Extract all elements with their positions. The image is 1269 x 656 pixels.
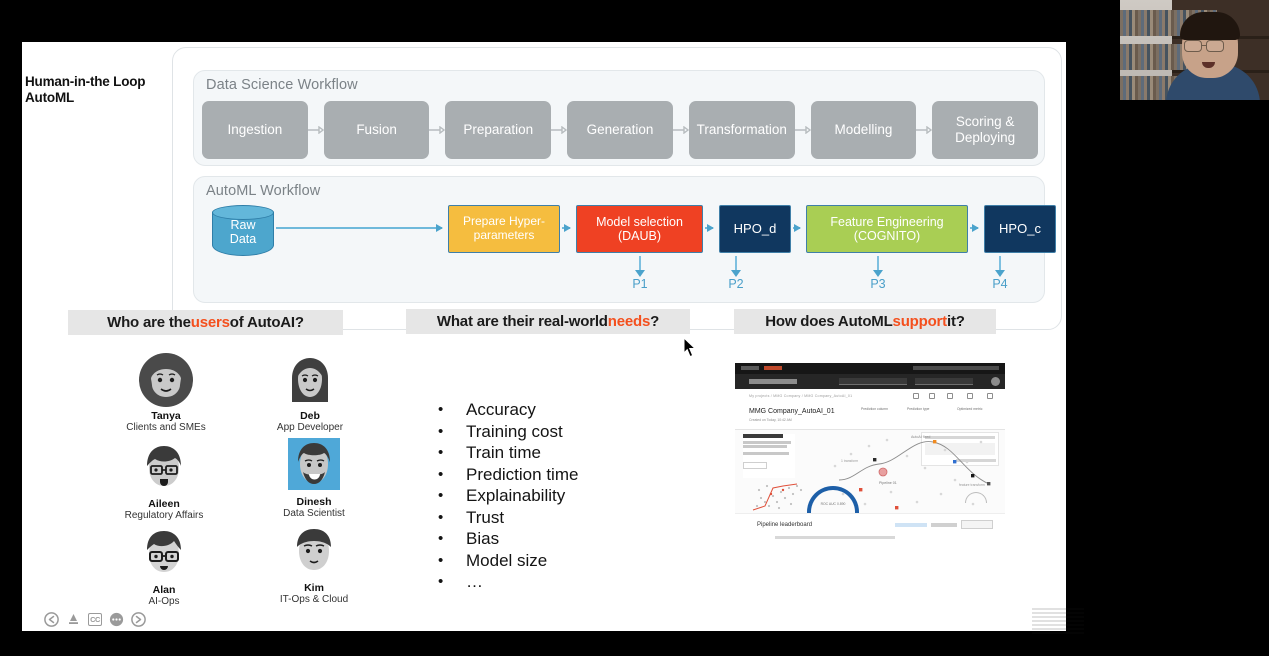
connector-arrow-icon [970, 227, 978, 229]
ranking-based-on-label [931, 523, 957, 527]
ds-step-preparation[interactable]: Preparation [445, 101, 551, 159]
svg-text:feature transform: feature transform [959, 483, 985, 487]
product-tab-active [764, 366, 782, 370]
ds-step-transformation[interactable]: Transformation [689, 101, 795, 159]
list-item: Trust [430, 507, 730, 529]
product-meta-optimized-metric: Optimized metric [957, 407, 982, 412]
more-options-icon[interactable] [109, 612, 124, 627]
feature-engineering-card [743, 434, 795, 478]
persona-role: IT-Ops & Cloud [254, 594, 374, 607]
arrow-right-icon [551, 126, 567, 134]
glasses-lens-left [1184, 40, 1202, 52]
arrow-head-icon [731, 270, 741, 277]
arrow-right-icon [916, 126, 932, 134]
edit-icon [929, 393, 935, 399]
svg-text:AutoAI fixed: AutoAI fixed [911, 435, 930, 439]
support-header-prefix: How does AutoML [765, 313, 892, 330]
product-nav-bar [735, 374, 1005, 389]
needs-header-highlight: needs [608, 313, 650, 330]
previous-slide-icon[interactable] [44, 612, 59, 627]
closed-captions-icon[interactable]: CC [88, 613, 102, 626]
connector-arrow-icon [705, 227, 713, 229]
scatter-plot-thumb [749, 476, 811, 516]
persona-role: AI-Ops [104, 596, 224, 609]
automl-step-prepare-hyperparameters[interactable]: Prepare Hyper- parameters [448, 205, 560, 253]
automl-step-model-selection[interactable]: Model selection (DAUB) [576, 205, 703, 253]
card-line [743, 441, 791, 444]
persona-role: Data Scientist [254, 508, 374, 521]
screen: Human-in-the Loop AutoML Data Science Wo… [0, 0, 1269, 656]
persona-role: Clients and SMEs [106, 422, 226, 435]
list-item: Train time [430, 442, 730, 464]
product-top-note [913, 366, 999, 370]
connector-arrow-icon [793, 227, 800, 229]
automl-step-hpo-d[interactable]: HPO_d [719, 205, 791, 253]
list-item: Model size [430, 550, 730, 572]
connector-arrow-icon [562, 227, 570, 229]
persona-grid: Tanya Clients and SMEs [68, 352, 358, 612]
pipeline-leaderboard: Pipeline leaderboard [735, 513, 1005, 547]
section-header-users: Who are the users of AutoAI? [68, 310, 343, 335]
automl-workflow-panel: AutoML Workflow Raw Data [193, 176, 1045, 303]
persona-alan: Alan AI-Ops [104, 526, 224, 609]
card-button[interactable] [743, 462, 767, 469]
persona-deb: Deb App Developer [250, 352, 370, 435]
product-tab-cloud [741, 366, 759, 370]
data-science-steps-row: Ingestion Fusion Preparation Generation [202, 101, 1038, 159]
users-header-suffix: of AutoAI? [230, 314, 304, 331]
ibm-logo [1032, 608, 1084, 634]
glasses-bridge [1202, 45, 1207, 46]
support-header-highlight: support [893, 313, 947, 330]
product-nav-select [839, 378, 907, 385]
arrow-head-icon [873, 270, 883, 277]
arrow-head-icon [995, 270, 1005, 277]
avatar-aileen-icon [136, 440, 192, 496]
list-item: … [430, 571, 730, 593]
persona-name: Tanya [106, 410, 226, 422]
card-title [743, 434, 783, 438]
avatar-dinesh-icon [286, 438, 342, 494]
automl-steps-row: Raw Data Prepare Hyper- parameters [204, 203, 1038, 265]
product-meta-prediction-column: Prediction column [861, 407, 888, 412]
workflow-diagram: Data Science Workflow Ingestion Fusion P… [172, 47, 1062, 330]
svg-text:Pipeline 01: Pipeline 01 [879, 481, 897, 485]
slide-player-controls: CC [26, 608, 146, 630]
automl-workflow-caption: AutoML Workflow [206, 183, 320, 199]
product-project-subtitle: Created on Today, 10:42 AM [749, 418, 792, 422]
persona-name: Aileen [104, 498, 224, 510]
section-header-needs: What are their real-world needs? [406, 309, 690, 334]
users-header-prefix: Who are the [107, 314, 191, 331]
arrow-head-icon [635, 270, 645, 277]
product-meta-prediction-type: Prediction type [907, 407, 929, 412]
persona-role: App Developer [250, 422, 370, 435]
arrow-right-icon [308, 126, 324, 134]
share-icon [967, 393, 973, 399]
card-line [743, 452, 789, 455]
persona-name: Deb [250, 410, 370, 422]
ds-step-fusion[interactable]: Fusion [324, 101, 430, 159]
svg-text:1 transform: 1 transform [841, 459, 858, 463]
leaderboard-metric-select[interactable] [961, 520, 993, 529]
avatar-deb-icon [282, 352, 338, 408]
ds-step-modelling[interactable]: Modelling [811, 101, 917, 159]
leaderboard-title: Pipeline leaderboard [757, 522, 812, 528]
gauge-label: ROC AUC 0.890 [807, 502, 859, 506]
list-item: Bias [430, 528, 730, 550]
product-nav-search [915, 378, 973, 385]
raw-data-cylinder-icon[interactable]: Raw Data [212, 205, 274, 263]
persona-dinesh: Dinesh Data Scientist [254, 438, 374, 521]
list-item: Explainability [430, 485, 730, 507]
persona-name: Dinesh [254, 496, 374, 508]
persona-tanya: Tanya Clients and SMEs [106, 352, 226, 435]
data-science-workflow-panel: Data Science Workflow Ingestion Fusion P… [193, 70, 1045, 166]
autoai-product-screenshot: My projects / MMG Company / MMG Company_… [735, 363, 1005, 547]
persona-kim: Kim IT-Ops & Cloud [254, 524, 374, 607]
card-line [743, 445, 787, 448]
list-item: Accuracy [430, 399, 730, 421]
persona-name: Alan [104, 584, 224, 596]
next-slide-icon[interactable] [131, 612, 146, 627]
product-top-bar [735, 363, 1005, 374]
avatar-tanya-icon [138, 352, 194, 408]
arrow-right-icon [673, 126, 689, 134]
list-item: Training cost [430, 421, 730, 443]
product-project-title: MMG Company_AutoAI_01 [749, 408, 835, 415]
automl-step-feature-engineering[interactable]: Feature Engineering (COGNITO) [806, 205, 968, 253]
link-icon [947, 393, 953, 399]
support-header-suffix: it? [947, 313, 965, 330]
ds-step-ingestion[interactable]: Ingestion [202, 101, 308, 159]
webcam-video-overlay[interactable] [1120, 0, 1269, 100]
data-science-workflow-caption: Data Science Workflow [206, 77, 358, 93]
product-avatar-icon [991, 377, 1000, 386]
ds-step-generation[interactable]: Generation [567, 101, 673, 159]
needs-bullet-list: Accuracy Training cost Train time Predic… [430, 399, 730, 593]
compare-pipelines-button[interactable] [895, 523, 927, 527]
product-action-icons [913, 393, 999, 400]
users-header-highlight: users [191, 314, 230, 331]
list-item: Prediction time [430, 464, 730, 486]
needs-header-prefix: What are their real-world [437, 313, 608, 330]
arrow-right-icon [429, 126, 445, 134]
page-title-line2: AutoML [25, 90, 185, 106]
product-nav-title [749, 379, 797, 384]
raw-data-label: Raw Data [212, 218, 274, 247]
settings-icon [987, 393, 993, 399]
mouse-cursor [683, 337, 697, 358]
avatar-alan-icon [136, 526, 192, 582]
persona-role: Regulatory Affairs [104, 510, 224, 523]
product-relationship-map: AutoAI fixed Pipeline 01 feature transfo… [735, 430, 1005, 525]
info-icon [913, 393, 919, 399]
persona-aileen: Aileen Regulatory Affairs [104, 440, 224, 523]
laser-pointer-icon[interactable] [66, 612, 81, 627]
connector-arrow-icon [276, 227, 442, 229]
section-header-support: How does AutoML support it? [734, 309, 996, 334]
page-title-line1: Human-in-the Loop [25, 74, 185, 90]
persona-name: Kim [254, 582, 374, 594]
glasses-lens-right [1206, 40, 1224, 52]
leaderboard-column-headers [775, 536, 895, 539]
needs-header-suffix: ? [650, 313, 659, 330]
avatar-kim-icon [286, 524, 342, 580]
presenter-hair [1180, 12, 1240, 40]
breadcrumb: My projects / MMG Company / MMG Company_… [749, 394, 852, 398]
ds-step-scoring-deploying[interactable]: Scoring & Deploying [932, 101, 1038, 159]
slide-canvas: Human-in-the Loop AutoML Data Science Wo… [22, 42, 1066, 631]
page-title: Human-in-the Loop AutoML [25, 74, 185, 106]
automl-step-hpo-c[interactable]: HPO_c [984, 205, 1056, 253]
arrow-right-icon [795, 126, 811, 134]
